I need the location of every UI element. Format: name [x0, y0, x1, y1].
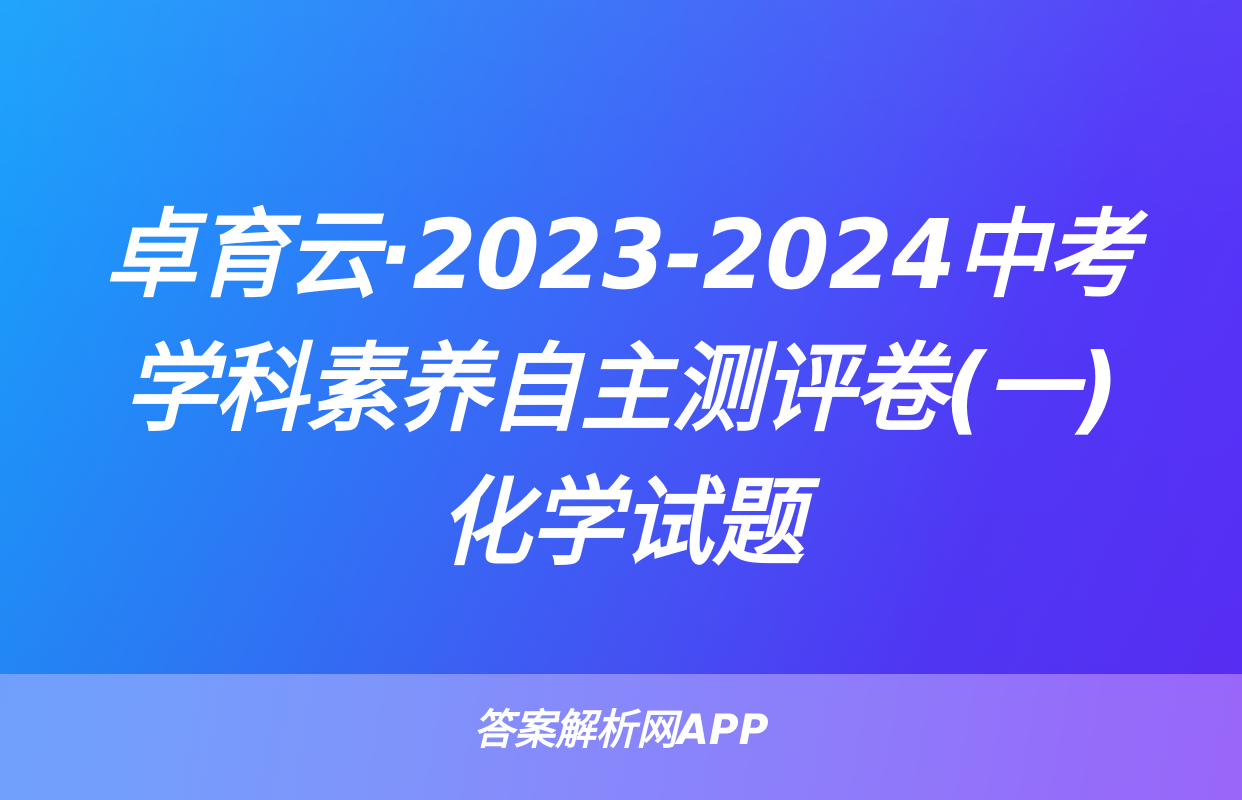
footer-watermark-label: 答案解析网APP: [474, 702, 769, 758]
footer-watermark: 答案解析网APP: [0, 702, 1242, 758]
title-line-3: 化学试题: [25, 456, 1217, 590]
poster-canvas: 卓育云·2023-2024中考 学科素养自主测评卷(一) 化学试题 答案解析网A…: [0, 0, 1242, 800]
title-line-1: 卓育云·2023-2024中考: [25, 188, 1217, 322]
page-title: 卓育云·2023-2024中考 学科素养自主测评卷(一) 化学试题: [0, 188, 1242, 590]
title-line-2: 学科素养自主测评卷(一): [25, 322, 1217, 456]
